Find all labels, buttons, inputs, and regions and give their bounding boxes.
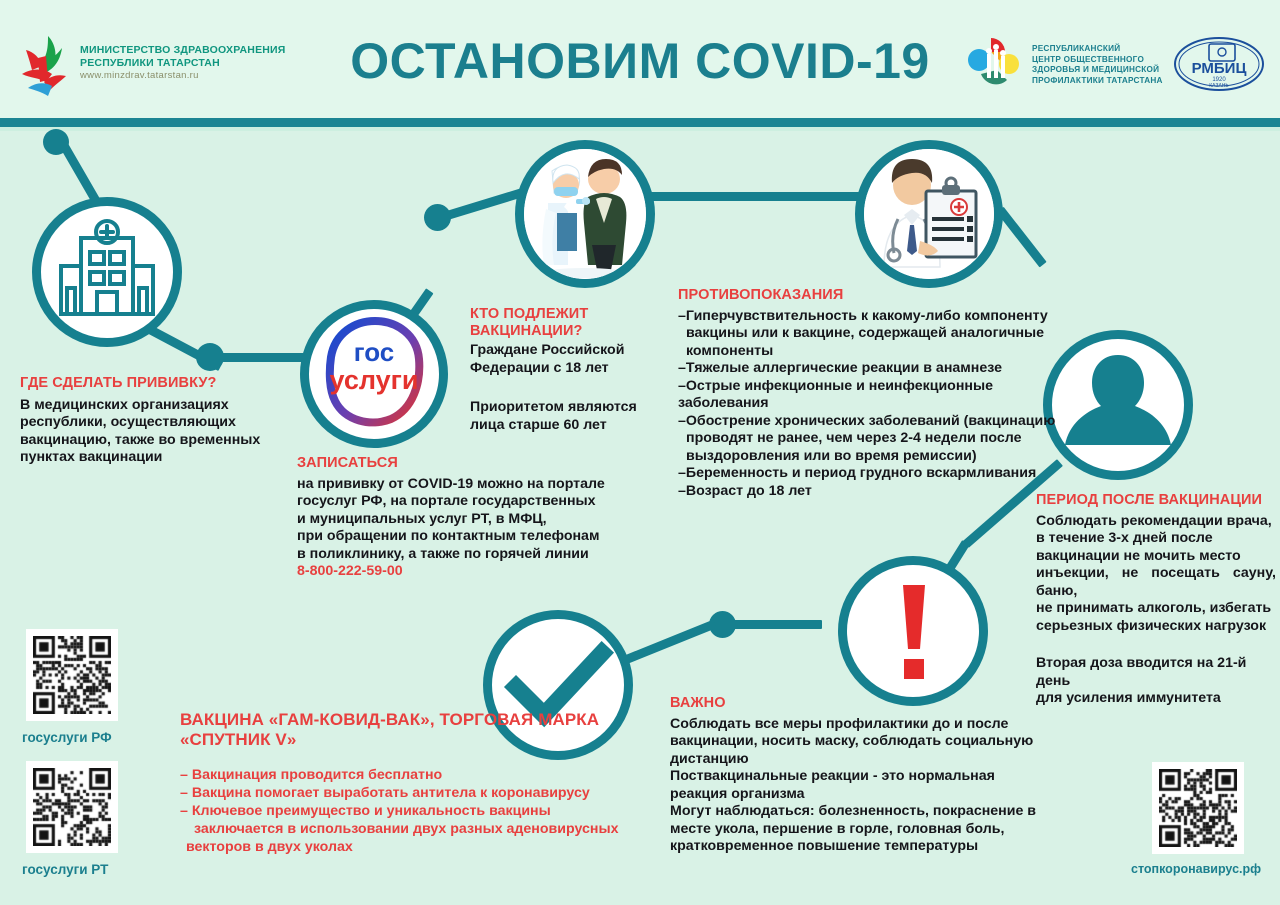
connector-dot-1 bbox=[43, 129, 69, 155]
signup-hotline-phone: 8-800-222-59-00 bbox=[297, 563, 657, 581]
where-line: вакцинацию, также во временных bbox=[20, 432, 310, 450]
node-hospital bbox=[32, 197, 182, 347]
who-priority-line: лица старше 60 лет bbox=[470, 417, 680, 435]
signup-line: госуслуг РФ, на портале государственных bbox=[297, 493, 657, 511]
gosuslugi-text-line-2: услуги bbox=[309, 365, 439, 395]
ministry-line-2: РЕСПУБЛИКИ ТАТАРСТАН bbox=[80, 57, 220, 69]
node-vaccination-scene bbox=[515, 140, 655, 288]
important-line: кратковременное повышение температуры bbox=[670, 838, 1070, 856]
signup-line: при обращении по контактным телефонам bbox=[297, 528, 657, 546]
public-health-center-logo-icon bbox=[963, 30, 1025, 98]
ministry-url: www.minzdrav.tatarstan.ru bbox=[80, 70, 199, 81]
contraindications-heading: ПРОТИВОПОКАЗАНИЯ bbox=[678, 287, 1068, 304]
contraindication-item-cont: выздоровления или во время ремиссии) bbox=[678, 448, 1068, 466]
important-line: Поствакцинальные реакции - это нормальна… bbox=[670, 768, 1070, 786]
center-line-1: РЕСПУБЛИКАНСКИЙ bbox=[1032, 44, 1120, 53]
after-heading: ПЕРИОД ПОСЛЕ ВАКЦИНАЦИИ bbox=[1036, 492, 1276, 509]
who-line: Федерации с 18 лет bbox=[470, 360, 680, 378]
important-body: Соблюдать все меры профилактики до и пос… bbox=[670, 716, 1070, 856]
signup-line: на прививку от COVID-19 можно на портале bbox=[297, 476, 657, 494]
signup-heading: ЗАПИСАТЬСЯ bbox=[297, 455, 657, 472]
important-line: Соблюдать все меры профилактики до и пос… bbox=[670, 716, 1070, 734]
block-after-vaccination: ПЕРИОД ПОСЛЕ ВАКЦИНАЦИИ Соблюдать рекоме… bbox=[1036, 492, 1276, 708]
important-line: Могут наблюдаться: болезненность, покрас… bbox=[670, 803, 1070, 821]
qr-gosuslugi-rf[interactable] bbox=[26, 629, 118, 721]
contraindication-item-cont: вакцины или к вакцине, содержащей аналог… bbox=[678, 325, 1068, 343]
block-where-to-vaccinate: ГДЕ СДЕЛАТЬ ПРИВИВКУ? В медицинских орга… bbox=[20, 375, 310, 467]
contraindication-item: –Обострение хронических заболеваний (вак… bbox=[678, 413, 1068, 431]
qr-stopkoronavirus[interactable] bbox=[1152, 762, 1244, 854]
node-exclamation bbox=[838, 556, 988, 706]
connector-check-to-dot4 bbox=[622, 620, 716, 665]
second-dose-line: для усиления иммунитета bbox=[1036, 690, 1276, 708]
vaccine-item: – Вакцинация проводится бесплатно bbox=[180, 766, 660, 784]
after-body: Соблюдать рекомендации врача, в течение … bbox=[1036, 513, 1276, 636]
who-heading-line-2: ВАКЦИНАЦИИ? bbox=[470, 323, 582, 339]
important-line: дистанцию bbox=[670, 751, 1070, 769]
where-heading: ГДЕ СДЕЛАТЬ ПРИВИВКУ? bbox=[20, 375, 310, 392]
ministry-line-1: МИНИСТЕРСТВО ЗДРАВООХРАНЕНИЯ bbox=[80, 44, 286, 56]
who-heading-line-1: КТО ПОДЛЕЖИТ bbox=[470, 306, 588, 322]
after-line: в течение 3-х дней после bbox=[1036, 530, 1276, 548]
who-body: Граждане Российской Федерации с 18 лет bbox=[470, 342, 680, 377]
ministry-name: МИНИСТЕРСТВО ЗДРАВООХРАНЕНИЯ РЕСПУБЛИКИ … bbox=[80, 44, 286, 83]
vaccine-heading: ВАКЦИНА «ГАМ-КОВИД-ВАК», ТОРГОВАЯ МАРКА … bbox=[180, 710, 660, 750]
contraindication-item: –Беременность и период грудного вскармли… bbox=[678, 465, 1068, 483]
header-divider-secondary bbox=[0, 127, 1280, 131]
after-line: серьезных физических нагрузок bbox=[1036, 618, 1276, 636]
qr-gosuslugi-rt[interactable] bbox=[26, 761, 118, 853]
vaccine-item: – Ключевое преимущество и уникальность в… bbox=[180, 802, 660, 820]
important-line: вакцинации, носить маску, соблюдать соци… bbox=[670, 733, 1070, 751]
block-contraindications: ПРОТИВОПОКАЗАНИЯ –Гиперчувствительность … bbox=[678, 287, 1068, 500]
gosuslugi-text-line-1: гос bbox=[309, 339, 439, 365]
signup-line: и муниципальных услуг РТ, в МФЦ, bbox=[297, 511, 657, 529]
qr-gosuslugi-rf-label: госуслуги РФ bbox=[22, 730, 112, 745]
vaccine-list: – Вакцинация проводится бесплатно – Вакц… bbox=[180, 766, 660, 856]
who-priority: Приоритетом являются лица старше 60 лет bbox=[470, 399, 680, 434]
contraindication-item: –Тяжелые аллергические реакции в анамнез… bbox=[678, 360, 1068, 378]
block-important: ВАЖНО Соблюдать все меры профилактики до… bbox=[670, 695, 1070, 856]
important-line: месте укола, першение в горле, головная … bbox=[670, 821, 1070, 839]
node-gosuslugi: гос услуги bbox=[300, 300, 448, 448]
who-priority-line: Приоритетом являются bbox=[470, 399, 680, 417]
important-heading: ВАЖНО bbox=[670, 695, 1070, 712]
after-line: вакцинации не мочить место bbox=[1036, 548, 1276, 566]
contraindication-item-cont: проводят не ранее, чем через 2-4 недели … bbox=[678, 430, 1068, 448]
exclamation-icon bbox=[847, 565, 979, 697]
where-body: В медицинских организациях республики, о… bbox=[20, 397, 310, 467]
after-second-dose: Вторая доза вводится на 21-й день для ус… bbox=[1036, 655, 1276, 708]
contraindication-item-cont: компоненты bbox=[678, 343, 1068, 361]
rmbic-logo-icon: РМБИЦ 1920 КАЗАНЬ bbox=[1173, 36, 1265, 92]
contraindication-item: –Гиперчувствительность к какому-либо ком… bbox=[678, 308, 1068, 326]
where-line: республики, осуществляющих bbox=[20, 414, 310, 432]
qr-stopkoronavirus-label: стопкоронавирус.рф bbox=[1131, 862, 1261, 876]
public-health-center-name: РЕСПУБЛИКАНСКИЙ ЦЕНТР ОБЩЕСТВЕННОГО ЗДОР… bbox=[1032, 44, 1163, 86]
contraindication-item: –Возраст до 18 лет bbox=[678, 483, 1068, 501]
important-line: реакция организма bbox=[670, 786, 1070, 804]
nurse-vaccinating-patient-icon bbox=[524, 149, 646, 279]
connector-dot4-to-exclamation bbox=[730, 620, 822, 629]
center-line-2: ЦЕНТР ОБЩЕСТВЕННОГО bbox=[1032, 55, 1144, 64]
vaccine-item-cont: векторов в двух уколах bbox=[180, 838, 660, 856]
block-who-is-eligible: КТО ПОДЛЕЖИТ ВАКЦИНАЦИИ? Граждане Россий… bbox=[470, 306, 680, 434]
vaccine-item-cont: заключается в использовании двух разных … bbox=[180, 820, 660, 838]
center-line-3: ЗДОРОВЬЯ И МЕДИЦИНСКОЙ bbox=[1032, 65, 1159, 74]
node-doctor bbox=[855, 140, 1003, 288]
block-vaccine: ВАКЦИНА «ГАМ-КОВИД-ВАК», ТОРГОВАЯ МАРКА … bbox=[180, 710, 660, 856]
after-line: инъекции, не посещать сауну, баню, bbox=[1036, 565, 1276, 600]
page-title: ОСТАНОВИМ COVID-19 bbox=[330, 32, 950, 90]
qr-gosuslugi-rt-label: госуслуги РТ bbox=[22, 862, 108, 877]
svg-text:КАЗАНЬ: КАЗАНЬ bbox=[1209, 83, 1229, 89]
center-line-4: ПРОФИЛАКТИКИ ТАТАРСТАНА bbox=[1032, 76, 1163, 85]
person-silhouette-icon bbox=[1052, 339, 1184, 471]
connector-wedding-to-doctor bbox=[648, 192, 863, 201]
contraindications-list: –Гиперчувствительность к какому-либо ком… bbox=[678, 308, 1068, 501]
where-line: пунктах вакцинации bbox=[20, 449, 310, 467]
contraindication-item: –Острые инфекционные и неинфекционные за… bbox=[678, 378, 1068, 413]
vaccine-item: – Вакцина помогает выработать антитела к… bbox=[180, 784, 660, 802]
after-line: не принимать алкоголь, избегать bbox=[1036, 600, 1276, 618]
connector-doctor-to-person bbox=[996, 207, 1046, 268]
connector-dot2-to-gosuslugi bbox=[216, 353, 312, 362]
header-divider bbox=[0, 118, 1280, 127]
after-line: Соблюдать рекомендации врача, bbox=[1036, 513, 1276, 531]
signup-body: на прививку от COVID-19 можно на портале… bbox=[297, 476, 657, 581]
who-line: Граждане Российской bbox=[470, 342, 680, 360]
poster-canvas: МИНИСТЕРСТВО ЗДРАВООХРАНЕНИЯ РЕСПУБЛИКИ … bbox=[0, 0, 1280, 905]
hospital-icon bbox=[41, 206, 173, 338]
doctor-with-clipboard-icon bbox=[864, 149, 994, 279]
signup-line: в поликлинику, а также по горячей линии bbox=[297, 546, 657, 564]
vaccine-heading-line-1: ВАКЦИНА «ГАМ-КОВИД-ВАК», bbox=[180, 710, 435, 729]
who-heading: КТО ПОДЛЕЖИТ ВАКЦИНАЦИИ? bbox=[470, 306, 680, 339]
ministry-logo-icon bbox=[18, 34, 74, 98]
svg-text:РМБИЦ: РМБИЦ bbox=[1192, 60, 1247, 77]
where-line: В медицинских организациях bbox=[20, 397, 310, 415]
second-dose-line: Вторая доза вводится на 21-й день bbox=[1036, 655, 1276, 690]
block-signup: ЗАПИСАТЬСЯ на прививку от COVID-19 можно… bbox=[297, 455, 657, 581]
